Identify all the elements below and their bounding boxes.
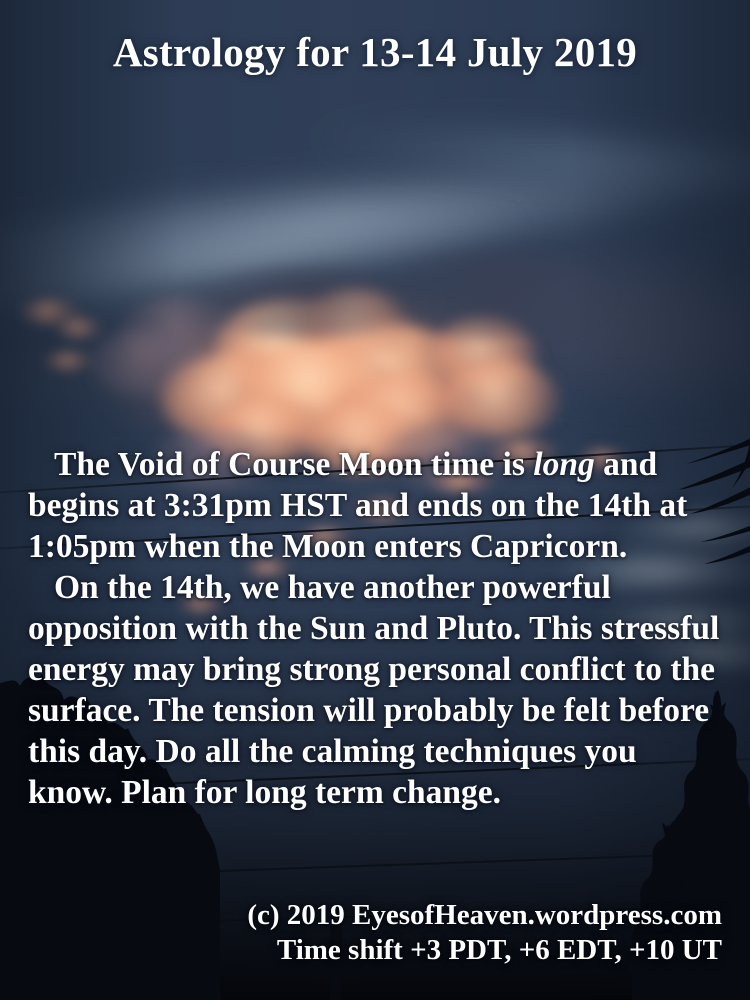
cloudlet <box>20 300 80 324</box>
paragraph-sun-pluto-opposition: On the 14th, we have another powerful op… <box>28 567 728 813</box>
dark-cloud-bank <box>411 203 750 447</box>
cirrus-streak-icon <box>0 112 750 318</box>
cirrus-streak-icon <box>238 93 750 216</box>
cloud-puff <box>90 330 200 396</box>
paragraph-run-text: On the 14th, we have another powerful op… <box>28 569 719 811</box>
cloud-shadow <box>380 250 610 338</box>
page-title: Astrology for 13-14 July 2019 <box>0 28 750 76</box>
astrology-poster: Astrology for 13-14 July 2019 The Void o… <box>0 0 750 1000</box>
cloud-puff <box>120 296 240 366</box>
cloud-puff <box>215 300 365 396</box>
cloudlet <box>56 318 102 338</box>
dark-cloud-bank <box>0 197 629 473</box>
cloud-puff <box>240 345 400 441</box>
cloud-shadow <box>180 268 440 338</box>
cloud-puff <box>430 318 538 392</box>
poster-footer: (c) 2019 EyesofHeaven.wordpress.com Time… <box>22 898 722 968</box>
cloud-puff <box>160 352 300 444</box>
time-shift-line: Time shift +3 PDT, +6 EDT, +10 UT <box>22 933 722 968</box>
cloud-puff <box>440 360 560 440</box>
forecast-body: The Void of Course Moon time is long and… <box>28 444 728 813</box>
paragraph-void-of-course-moon: The Void of Course Moon time is long and… <box>28 444 728 567</box>
copyright-line: (c) 2019 EyesofHeaven.wordpress.com <box>22 898 722 933</box>
cirrus-streak-icon <box>0 163 663 343</box>
cloudlet <box>44 352 94 370</box>
paragraph-run-emphasis: long <box>533 446 594 483</box>
cloud-puff <box>300 290 410 360</box>
power-line <box>0 850 750 880</box>
paragraph-run-text: The Void of Course Moon time is <box>54 446 533 483</box>
cloud-puff <box>300 322 470 426</box>
